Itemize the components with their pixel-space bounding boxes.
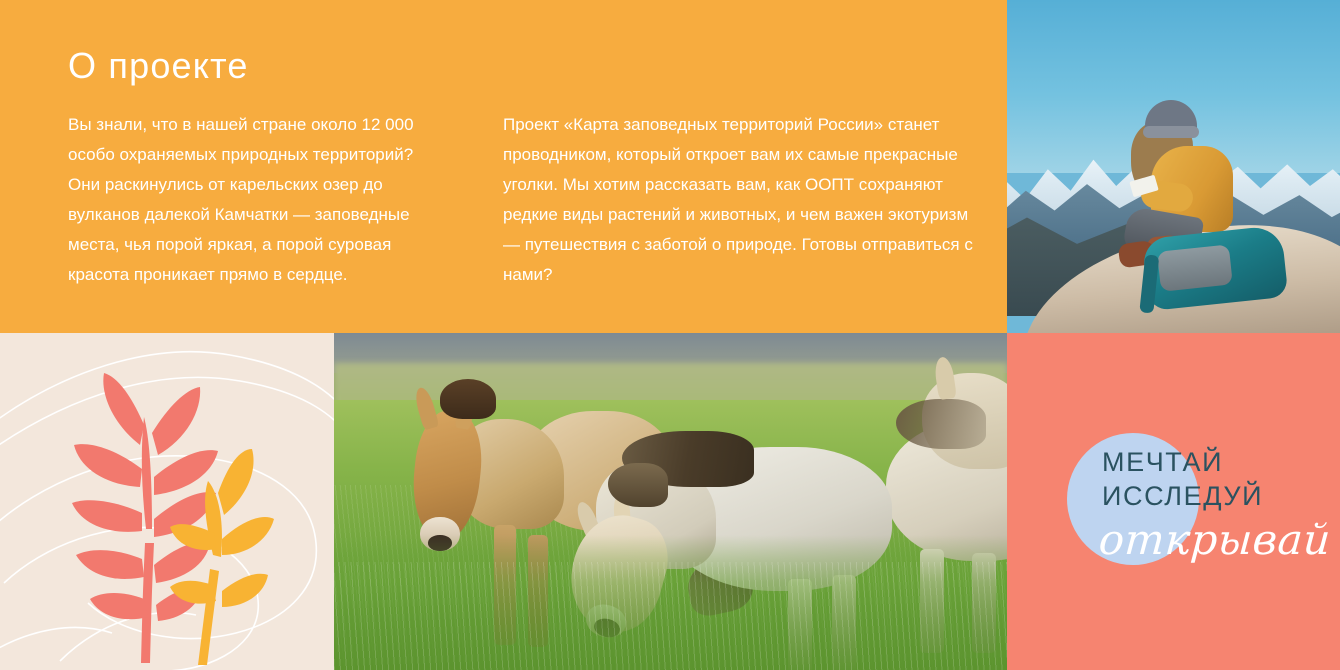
horse-right-mane (896, 399, 986, 449)
slogan-line-1: МЕЧТАЙ (1102, 447, 1223, 478)
horses-foreground-blades (334, 562, 1007, 670)
intro-paragraph-left: Вы знали, что в нашей стране около 12 00… (68, 110, 443, 290)
horse-brown-mane (440, 379, 496, 419)
page-title: О проекте (68, 46, 249, 86)
slogan-script-word: открывай (1097, 515, 1332, 564)
intro-paragraph-right: Проект «Карта заповедных территорий Росс… (503, 110, 973, 290)
hiker-beanie-brim (1143, 126, 1199, 138)
slogan-line-2: ИССЛЕДУЙ (1102, 481, 1263, 512)
photo-backpack (1142, 225, 1289, 311)
slide-root: О проекте Вы знали, что в нашей стране о… (0, 0, 1340, 670)
backpack-panel (1157, 244, 1233, 291)
coral-sprig (72, 373, 218, 663)
photo-hiker-mountains (1007, 0, 1340, 333)
photo-przewalski-horses (334, 333, 1007, 670)
slogan-panel: МЕЧТАЙ ИССЛЕДУЙ открывай (1007, 333, 1340, 670)
horse-brown-ear-left (413, 386, 440, 431)
intro-columns: Вы знали, что в нашей стране около 12 00… (0, 110, 1007, 290)
botanical-decoration-panel (0, 333, 334, 670)
horse-grey-forelock (608, 463, 668, 507)
botanical-illustration (0, 333, 334, 670)
